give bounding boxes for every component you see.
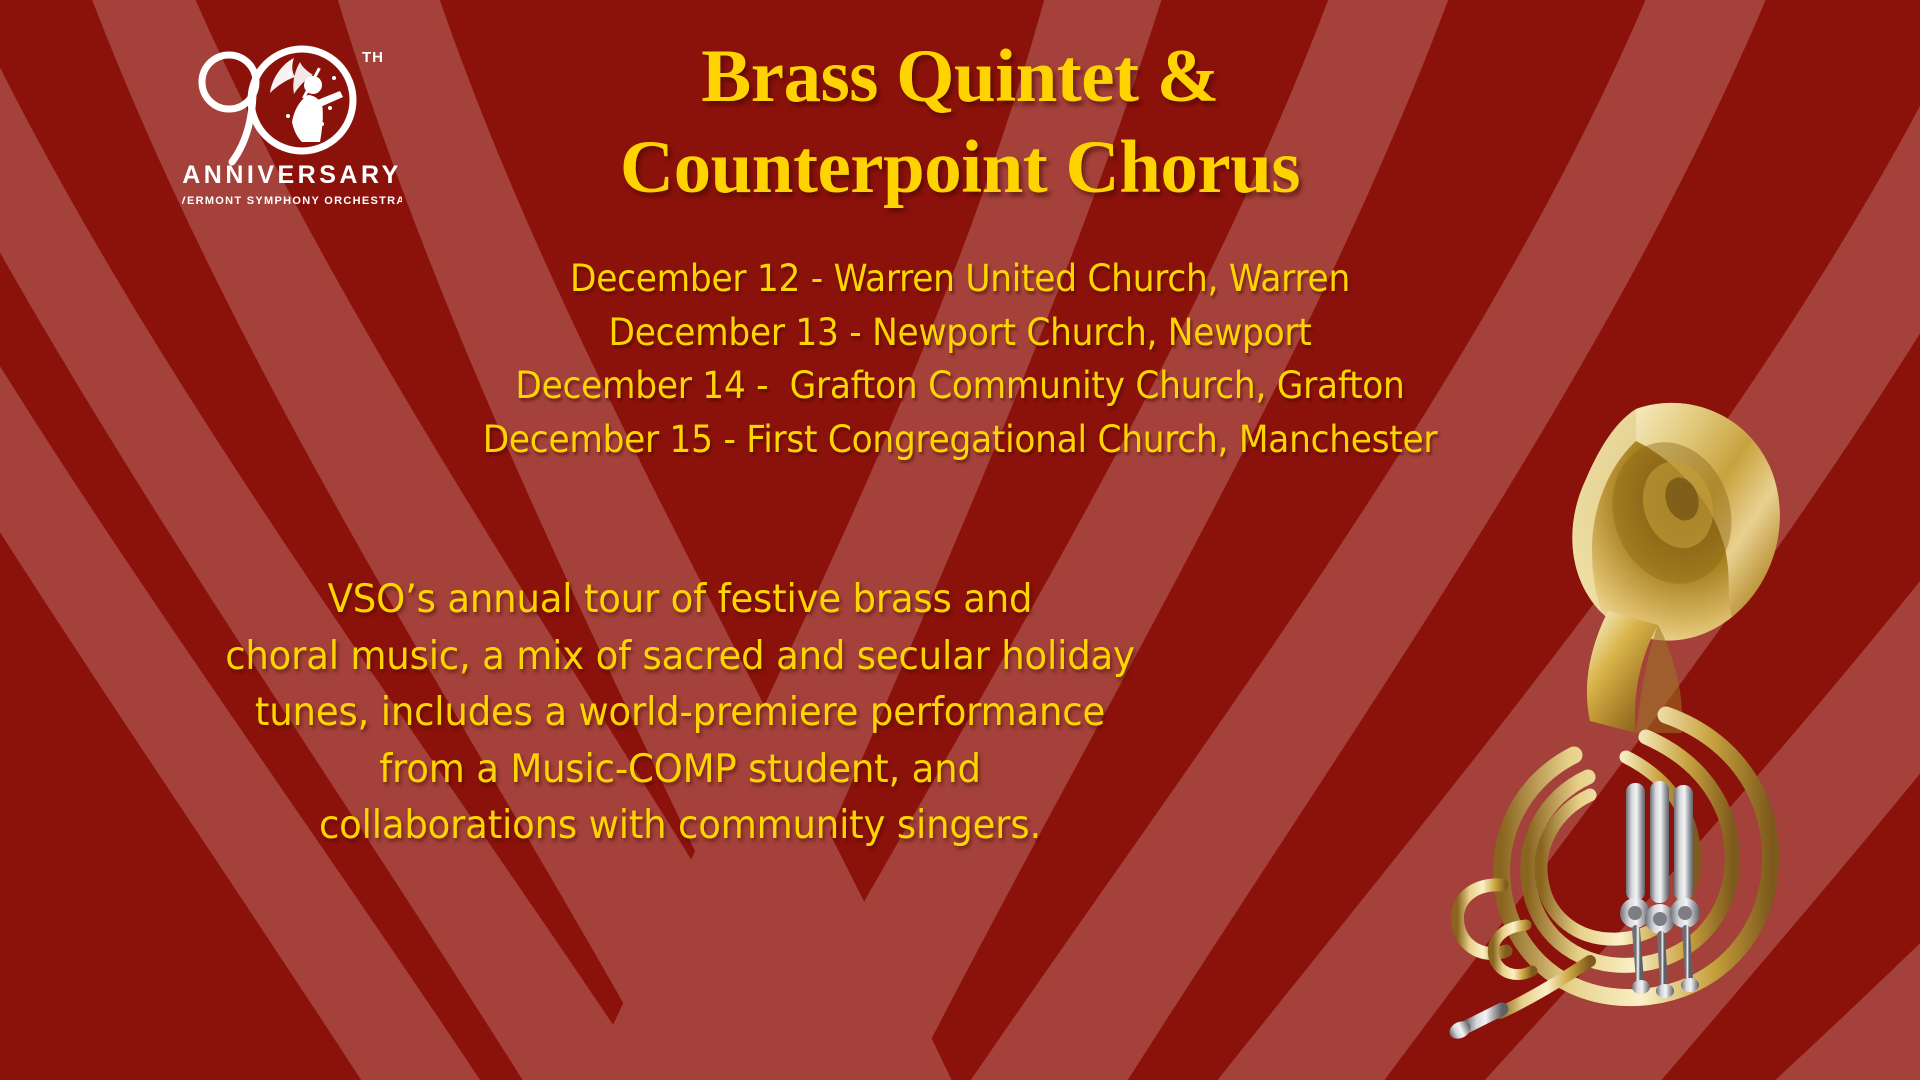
tour-date-item: December 14 - Grafton Community Church, … (346, 359, 1574, 413)
description-line: from a Music-COMP student, and (177, 742, 1184, 799)
logo-ordinal: TH (362, 49, 384, 66)
description-line: choral music, a mix of sacred and secula… (177, 629, 1184, 686)
vso-90th-anniversary-logo: TH ANNIVERSARY VERMONT SYMPHONY ORCHESTR… (182, 38, 402, 218)
french-horn-image (1440, 385, 1860, 1045)
description-line: VSO’s annual tour of festive brass and (177, 572, 1184, 629)
tour-date-item: December 12 - Warren United Church, Warr… (346, 252, 1574, 306)
description-paragraph: VSO’s annual tour of festive brass and c… (150, 572, 1210, 855)
logo-org-name: VERMONT SYMPHONY ORCHESTRA (182, 195, 402, 207)
angel-violinist-icon (270, 58, 343, 142)
poster-canvas: TH ANNIVERSARY VERMONT SYMPHONY ORCHESTR… (0, 0, 1920, 1080)
tour-date-item: December 15 - First Congregational Churc… (346, 413, 1574, 467)
page-title: Brass Quintet & Counterpoint Chorus (430, 32, 1490, 214)
logo-anniversary-label: ANNIVERSARY (182, 161, 402, 189)
tour-date-item: December 13 - Newport Church, Newport (346, 306, 1574, 360)
horn-tubing (1457, 715, 1770, 998)
title-line-2: Counterpoint Chorus (430, 123, 1490, 214)
description-line: collaborations with community singers. (177, 798, 1184, 855)
horn-bell (1572, 403, 1779, 641)
title-line-1: Brass Quintet & (430, 32, 1490, 123)
tour-date-list: December 12 - Warren United Church, Warr… (300, 252, 1620, 467)
description-line: tunes, includes a world-premiere perform… (177, 685, 1184, 742)
